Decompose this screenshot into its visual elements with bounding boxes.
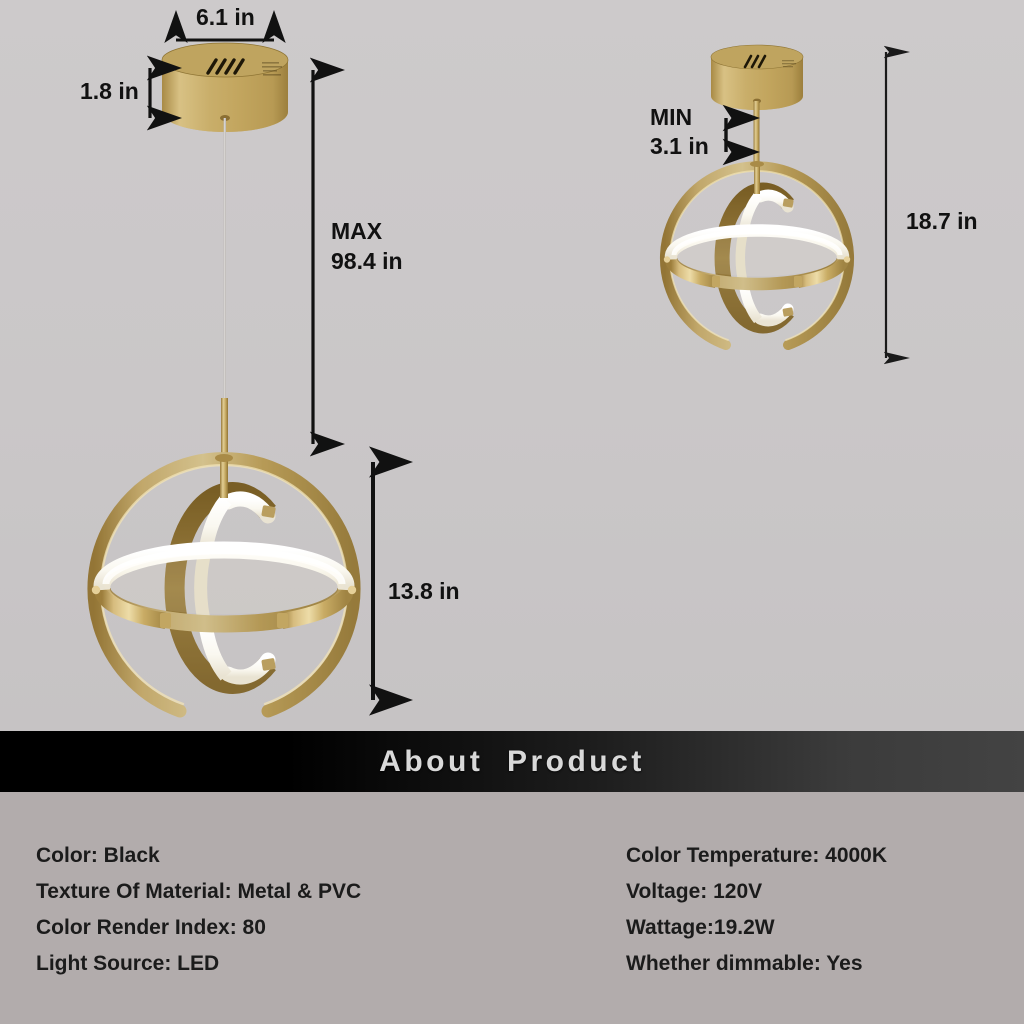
spec-item-texture: Texture Of Material: Metal & PVC <box>36 874 361 910</box>
spec-column-left: Color: Black Texture Of Material: Metal … <box>36 838 361 982</box>
banner-title: About Product <box>379 745 645 779</box>
label-canopy-height: 1.8 in <box>80 78 139 104</box>
spec-item-color-temperature: Color Temperature: 4000K <box>626 838 887 874</box>
spec-item-voltage: Voltage: 120V <box>626 874 887 910</box>
spec-item-color: Color: Black <box>36 838 361 874</box>
label-canopy-width: 6.1 in <box>196 4 255 30</box>
spec-item-wattage: Wattage:19.2W <box>626 910 887 946</box>
spec-item-light-source: Light Source: LED <box>36 946 361 982</box>
label-fixture-height-left: 13.8 in <box>388 578 460 604</box>
label-max-drop-value: 98.4 in <box>331 248 403 274</box>
about-product-banner: About Product <box>0 731 1024 792</box>
product-spec-image: 6.1 in 1.8 in MAX 98.4 in 13.8 in MIN 3.… <box>0 0 1024 1024</box>
spec-item-color-render: Color Render Index: 80 <box>36 910 361 946</box>
label-max-drop-title: MAX <box>331 218 382 244</box>
label-min-drop-title: MIN <box>650 104 692 130</box>
spec-column-right: Color Temperature: 4000K Voltage: 120V W… <box>626 838 887 982</box>
label-fixture-height-right: 18.7 in <box>906 208 978 234</box>
top-background-panel <box>0 0 1024 731</box>
label-min-drop-value: 3.1 in <box>650 133 709 159</box>
spec-item-dimmable: Whether dimmable: Yes <box>626 946 887 982</box>
